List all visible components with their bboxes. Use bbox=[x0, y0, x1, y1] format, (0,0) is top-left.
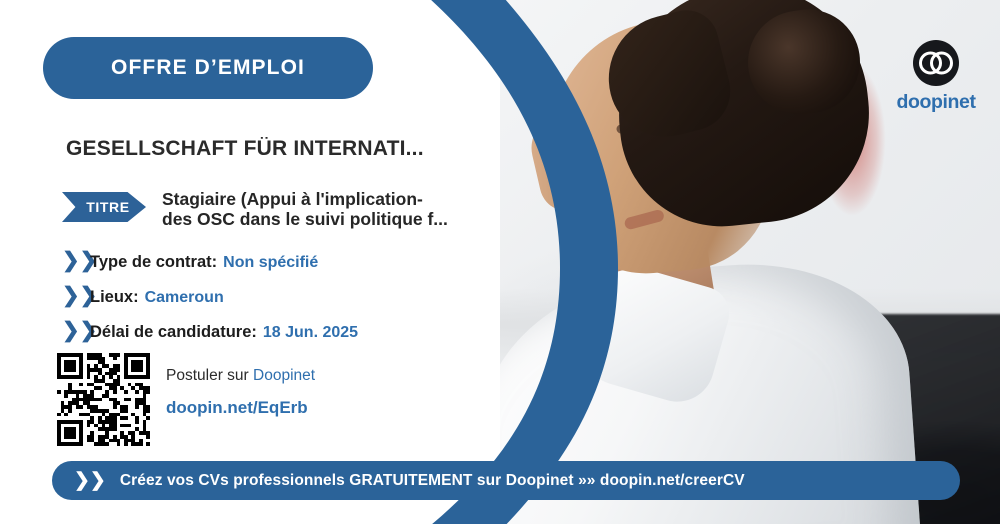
apply-block: Postuler sur Doopinet doopin.net/EqErb bbox=[57, 353, 315, 446]
offer-badge: OFFRE D’EMPLOI bbox=[43, 37, 373, 99]
meta-value-location: Cameroun bbox=[145, 289, 224, 307]
titre-ribbon: TITRE bbox=[62, 192, 146, 222]
apply-instruction: Postuler sur Doopinet bbox=[166, 367, 315, 385]
offer-badge-label: OFFRE D’EMPLOI bbox=[111, 56, 305, 80]
job-offer-poster: OFFRE D’EMPLOI GESELLSCHAFT FÜR INTERNAT… bbox=[0, 0, 1000, 524]
double-chevron-icon: ❯❯ bbox=[62, 250, 86, 271]
meta-label-deadline: Délai de candidature: bbox=[90, 323, 257, 342]
meta-label-contract-type: Type de contrat: bbox=[90, 253, 217, 272]
infinity-loop-icon bbox=[913, 40, 959, 86]
doopinet-wordmark: doopinet bbox=[890, 91, 982, 114]
apply-url[interactable]: doopin.net/EqErb bbox=[166, 398, 315, 418]
offer-details-pane: OFFRE D’EMPLOI GESELLSCHAFT FÜR INTERNAT… bbox=[0, 0, 500, 524]
double-chevron-icon: ❯❯ bbox=[74, 471, 106, 490]
meta-value-deadline: 18 Jun. 2025 bbox=[263, 324, 358, 342]
meta-value-contract-type: Non spécifié bbox=[223, 254, 318, 272]
job-title-row: TITRE Stagiaire (Appui à l'implication- … bbox=[62, 190, 492, 229]
double-chevron-icon: ❯❯ bbox=[62, 285, 86, 306]
cv-promo-text: Créez vos CVs professionnels GRATUITEMEN… bbox=[120, 472, 745, 490]
qr-code[interactable] bbox=[57, 353, 150, 446]
meta-row-location: ❯❯ Lieux: Cameroun bbox=[62, 285, 492, 307]
meta-row-deadline: ❯❯ Délai de candidature: 18 Jun. 2025 bbox=[62, 320, 492, 342]
meta-label-location: Lieux: bbox=[90, 288, 139, 307]
meta-row-contract-type: ❯❯ Type de contrat: Non spécifié bbox=[62, 250, 492, 272]
apply-text: Postuler sur Doopinet doopin.net/EqErb bbox=[166, 353, 315, 418]
titre-ribbon-label: TITRE bbox=[78, 199, 129, 215]
job-title-line-2: des OSC dans le suivi politique f... bbox=[162, 210, 448, 230]
apply-brand: Doopinet bbox=[253, 367, 315, 384]
person-lips bbox=[623, 209, 665, 231]
cv-promo-banner[interactable]: ❯❯ Créez vos CVs professionnels GRATUITE… bbox=[52, 461, 960, 500]
job-meta-list: ❯❯ Type de contrat: Non spécifié ❯❯ Lieu… bbox=[62, 250, 492, 355]
company-name: GESELLSCHAFT FÜR INTERNATI... bbox=[66, 137, 486, 161]
job-title: Stagiaire (Appui à l'implication- des OS… bbox=[162, 190, 448, 229]
apply-instruction-prefix: Postuler sur bbox=[166, 367, 253, 384]
double-chevron-icon: ❯❯ bbox=[62, 320, 86, 341]
doopinet-logo: doopinet bbox=[890, 40, 982, 114]
job-title-line-1: Stagiaire (Appui à l'implication- bbox=[162, 190, 448, 210]
